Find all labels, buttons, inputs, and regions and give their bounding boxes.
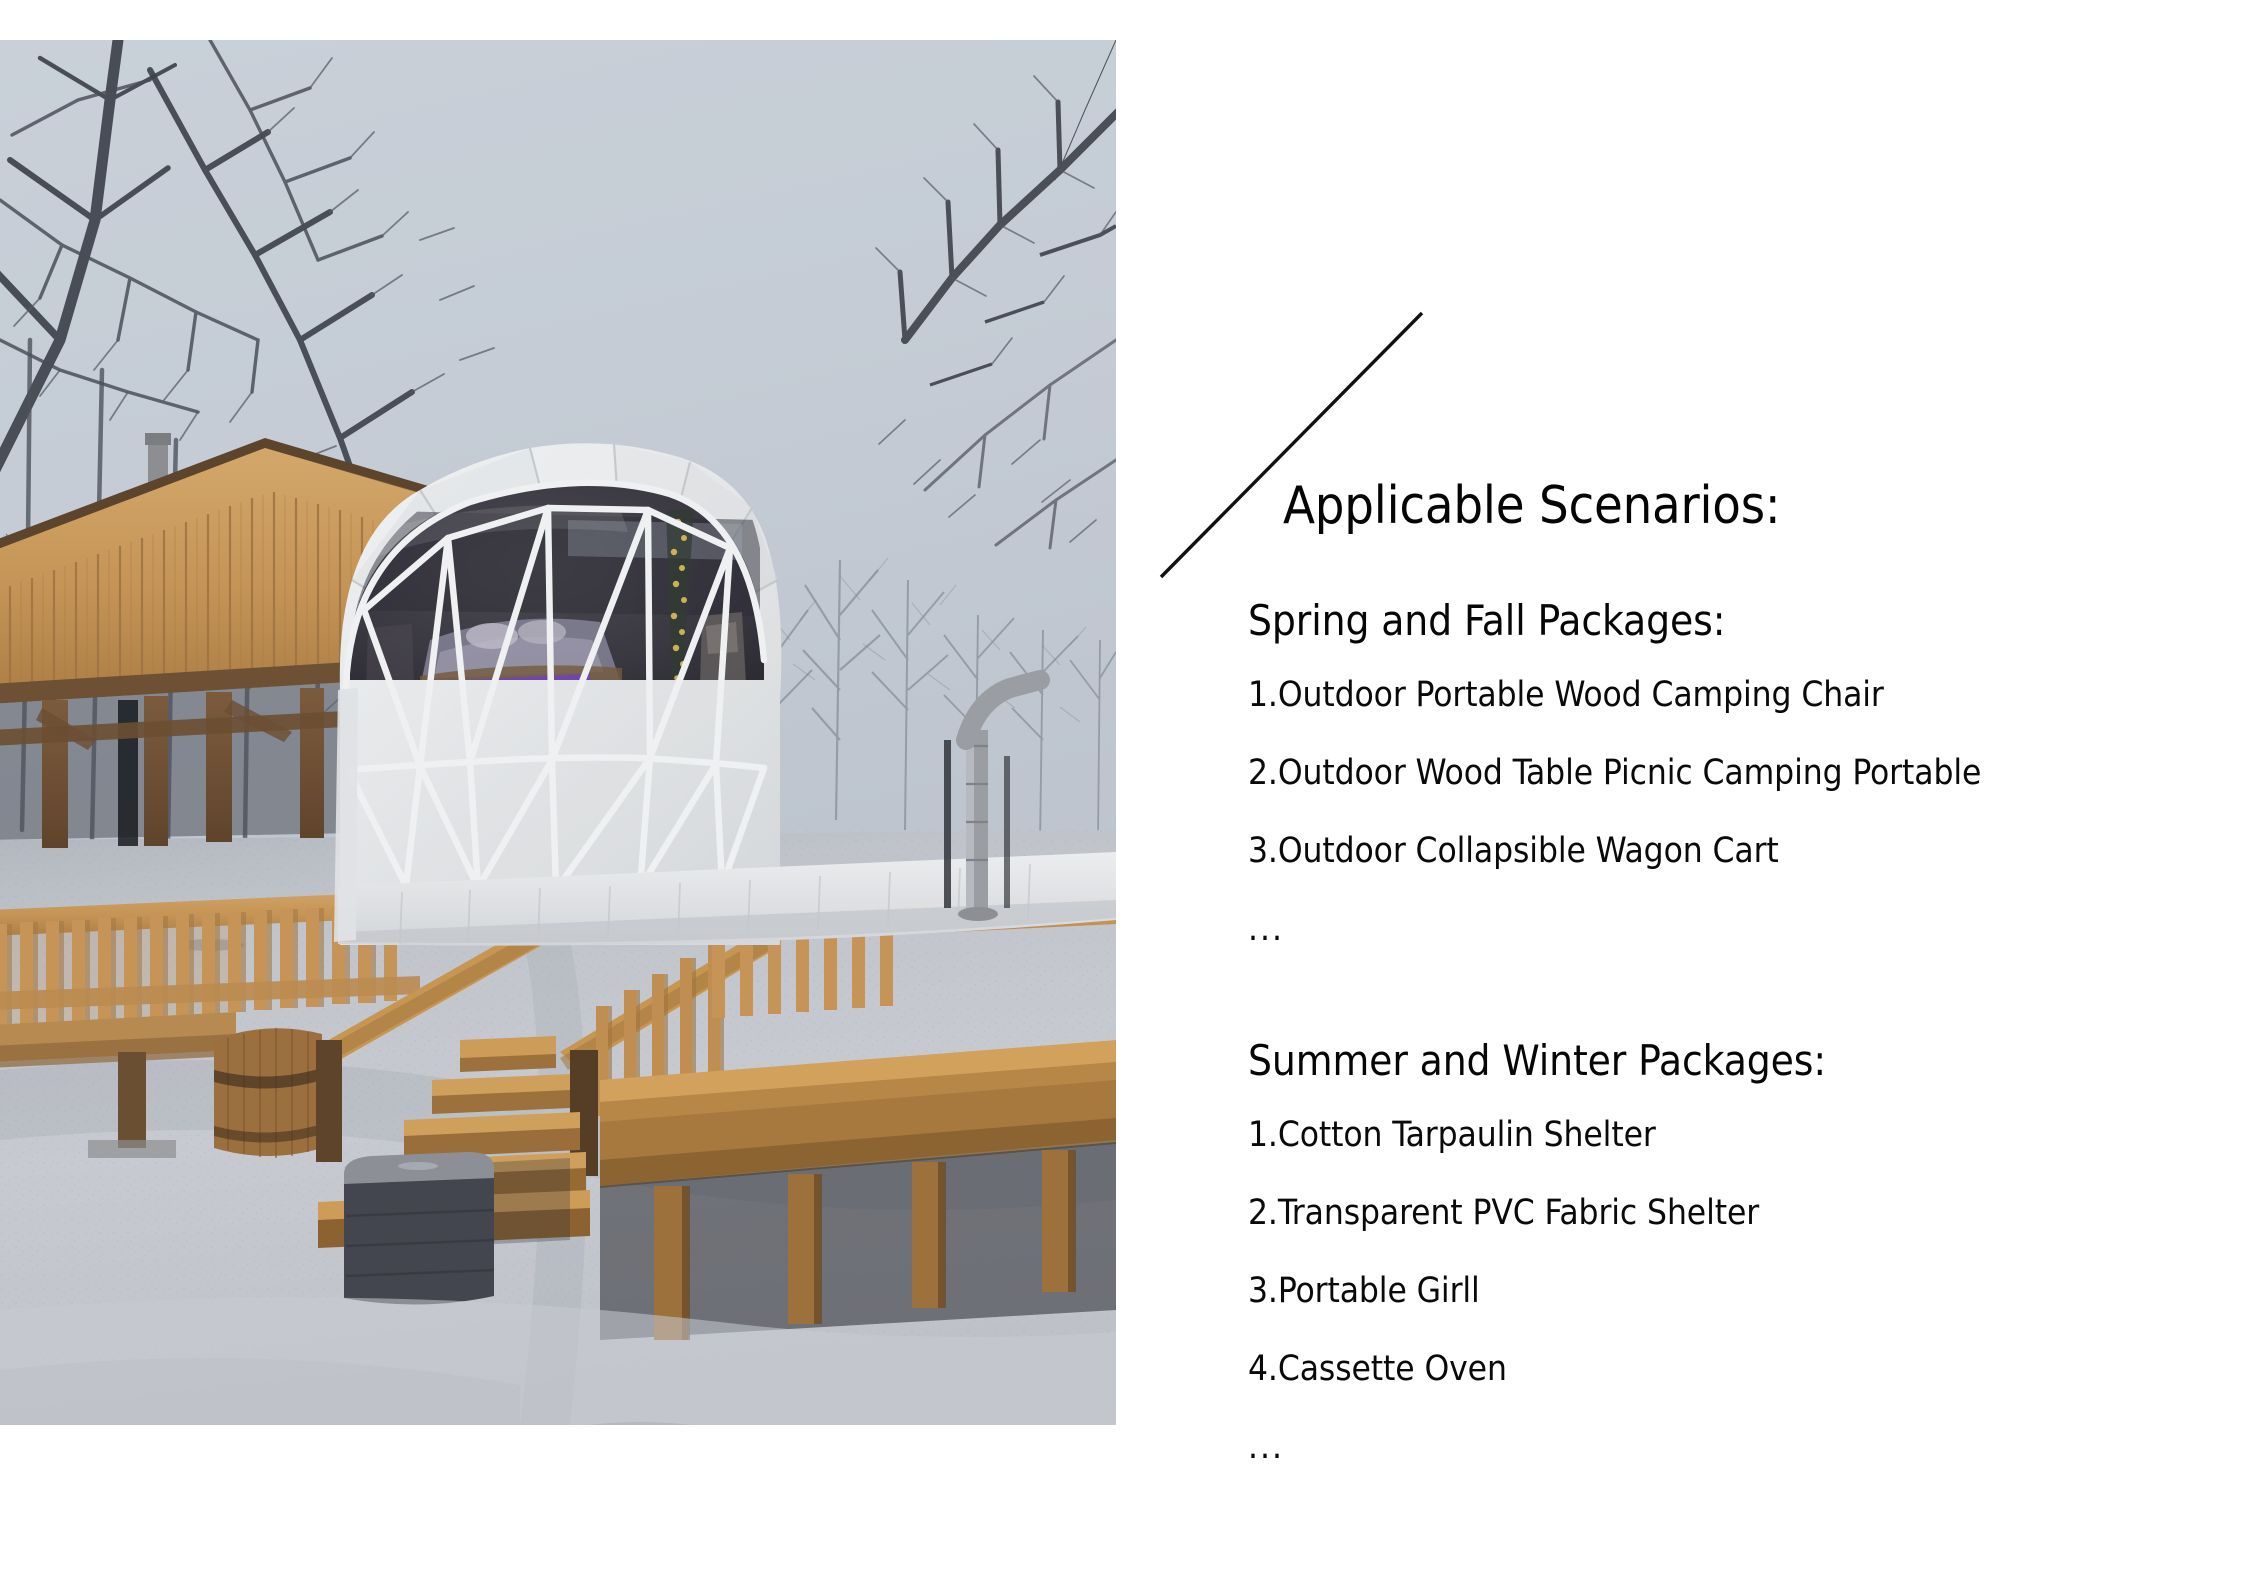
- list-item: 2.Transparent PVC Fabric Shelter: [1248, 1196, 2208, 1231]
- list-item: 2.Outdoor Wood Table Picnic Camping Port…: [1248, 756, 2208, 791]
- section-summer-and-winter: Summer and Winter Packages: 1.Cotton Tar…: [1248, 1040, 2208, 1465]
- list-item: 3.Outdoor Collapsible Wagon Cart: [1248, 834, 2208, 869]
- section-heading-summer: Summer and Winter Packages:: [1248, 1040, 2208, 1082]
- list-item: 3.Portable Girll: [1248, 1274, 2208, 1309]
- item-list-spring: 1.Outdoor Portable Wood Camping Chair 2.…: [1248, 678, 2208, 947]
- photo-illustration: [0, 40, 1116, 1425]
- page-title: Applicable Scenarios:: [1283, 479, 1780, 534]
- section-spring-and-fall: Spring and Fall Packages: 1.Outdoor Port…: [1248, 600, 2208, 947]
- diagonal-slash-icon: [1161, 313, 1422, 577]
- glamping-dome-photo: [0, 40, 1116, 1425]
- section-heading-spring: Spring and Fall Packages:: [1248, 600, 2208, 642]
- list-item: 1.Outdoor Portable Wood Camping Chair: [1248, 678, 2208, 713]
- item-list-summer: 1.Cotton Tarpaulin Shelter 2.Transparent…: [1248, 1118, 2208, 1465]
- list-item: 4.Cassette Oven: [1248, 1352, 2208, 1387]
- content-panel: Applicable Scenarios: Spring and Fall Pa…: [1140, 0, 2245, 1588]
- list-item: 1.Cotton Tarpaulin Shelter: [1248, 1118, 2208, 1153]
- list-item-ellipsis: ...: [1248, 912, 2208, 947]
- list-item-ellipsis: ...: [1248, 1430, 2208, 1465]
